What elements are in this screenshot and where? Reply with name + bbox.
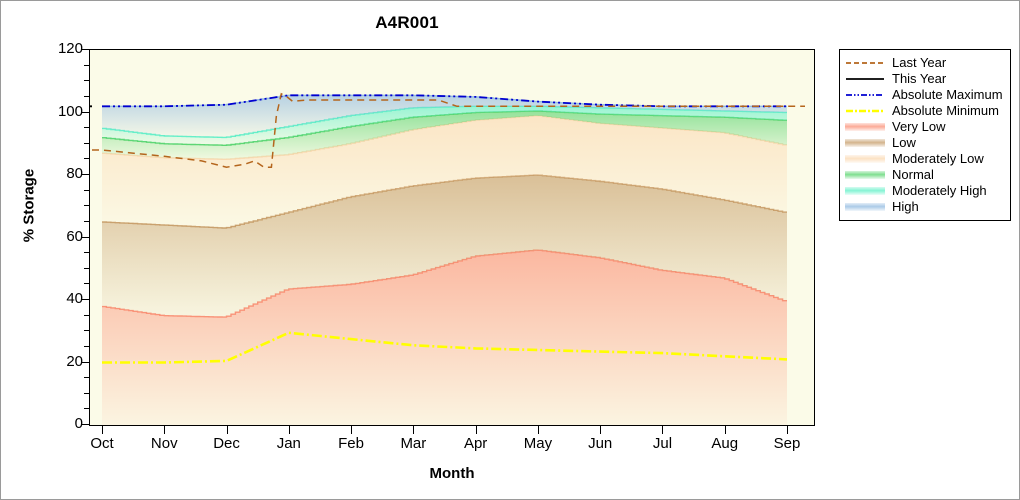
x-tick-label: Dec [197, 435, 257, 452]
legend-item[interactable]: Very Low [845, 119, 1006, 135]
band-swatch [845, 152, 885, 166]
x-axis-title: Month [89, 465, 815, 482]
x-tick-mark [102, 425, 103, 434]
legend-item-label: Moderately High [892, 184, 987, 198]
x-tick-label: Nov [134, 435, 194, 452]
plot-inner [90, 50, 814, 425]
y-tick-label: 0 [45, 415, 83, 432]
plot-area [89, 49, 815, 426]
band-swatch [845, 184, 885, 198]
x-tick-label: Mar [383, 435, 443, 452]
legend-item-label: Absolute Minimum [892, 104, 999, 118]
legend-item-label: Absolute Maximum [892, 88, 1003, 102]
x-tick-mark [725, 425, 726, 434]
legend-item[interactable]: This Year [845, 71, 1006, 87]
x-tick-label: Feb [321, 435, 381, 452]
x-tick-mark [600, 425, 601, 434]
legend-item-label: This Year [892, 72, 946, 86]
x-tick-mark [289, 425, 290, 434]
y-tick-label: 120 [45, 40, 83, 57]
legend-item[interactable]: Moderately Low [845, 151, 1006, 167]
x-tick-mark [476, 425, 477, 434]
x-axis-ticks [89, 425, 815, 434]
legend-item-label: Moderately Low [892, 152, 984, 166]
x-tick-mark [787, 425, 788, 434]
x-tick-label: Jan [259, 435, 319, 452]
x-axis-tick-labels: OctNovDecJanFebMarAprMayJunJulAugSep [89, 435, 815, 457]
band-swatch [845, 120, 885, 134]
x-tick-label: Aug [695, 435, 755, 452]
chart-svg [90, 50, 814, 425]
y-tick-label: 40 [45, 290, 83, 307]
y-tick-label: 80 [45, 165, 83, 182]
y-tick-label: 60 [45, 228, 83, 245]
x-tick-label: May [508, 435, 568, 452]
x-tick-mark [351, 425, 352, 434]
x-tick-mark [164, 425, 165, 434]
band-swatch [845, 136, 885, 150]
legend-item-label: Last Year [892, 56, 946, 70]
legend-item[interactable]: Low [845, 135, 1006, 151]
legend-item-label: High [892, 200, 919, 214]
legend-item[interactable]: Absolute Maximum [845, 87, 1006, 103]
legend-item[interactable]: Last Year [845, 55, 1006, 71]
legend-item[interactable]: Normal [845, 167, 1006, 183]
x-tick-label: Sep [757, 435, 817, 452]
x-tick-mark [662, 425, 663, 434]
legend-item[interactable]: High [845, 199, 1006, 215]
legend-item-label: Low [892, 136, 916, 150]
chart-legend: Last YearThis YearAbsolute MaximumAbsolu… [839, 49, 1011, 221]
x-tick-label: Jun [570, 435, 630, 452]
page-title: A4R001 [1, 13, 813, 33]
dash-dot-dot-line-swatch [845, 88, 885, 102]
dash-dot-line-swatch [845, 104, 885, 118]
x-tick-mark [227, 425, 228, 434]
x-tick-mark [538, 425, 539, 434]
y-axis-title: % Storage [21, 126, 38, 286]
band-swatch [845, 168, 885, 182]
legend-item-label: Normal [892, 168, 934, 182]
x-tick-label: Jul [632, 435, 692, 452]
band-swatch [845, 200, 885, 214]
y-tick-label: 100 [45, 103, 83, 120]
chart-page: A4R001 % Storage 020406080100120 OctNovD… [0, 0, 1020, 500]
x-tick-mark [413, 425, 414, 434]
y-axis-tick-labels: 020406080100120 [39, 49, 83, 424]
legend-item-label: Very Low [892, 120, 945, 134]
y-tick-label: 20 [45, 353, 83, 370]
solid-line-swatch [845, 72, 885, 86]
x-tick-label: Oct [72, 435, 132, 452]
legend-item[interactable]: Absolute Minimum [845, 103, 1006, 119]
dashed-line-swatch [845, 56, 885, 70]
legend-item[interactable]: Moderately High [845, 183, 1006, 199]
x-tick-label: Apr [446, 435, 506, 452]
